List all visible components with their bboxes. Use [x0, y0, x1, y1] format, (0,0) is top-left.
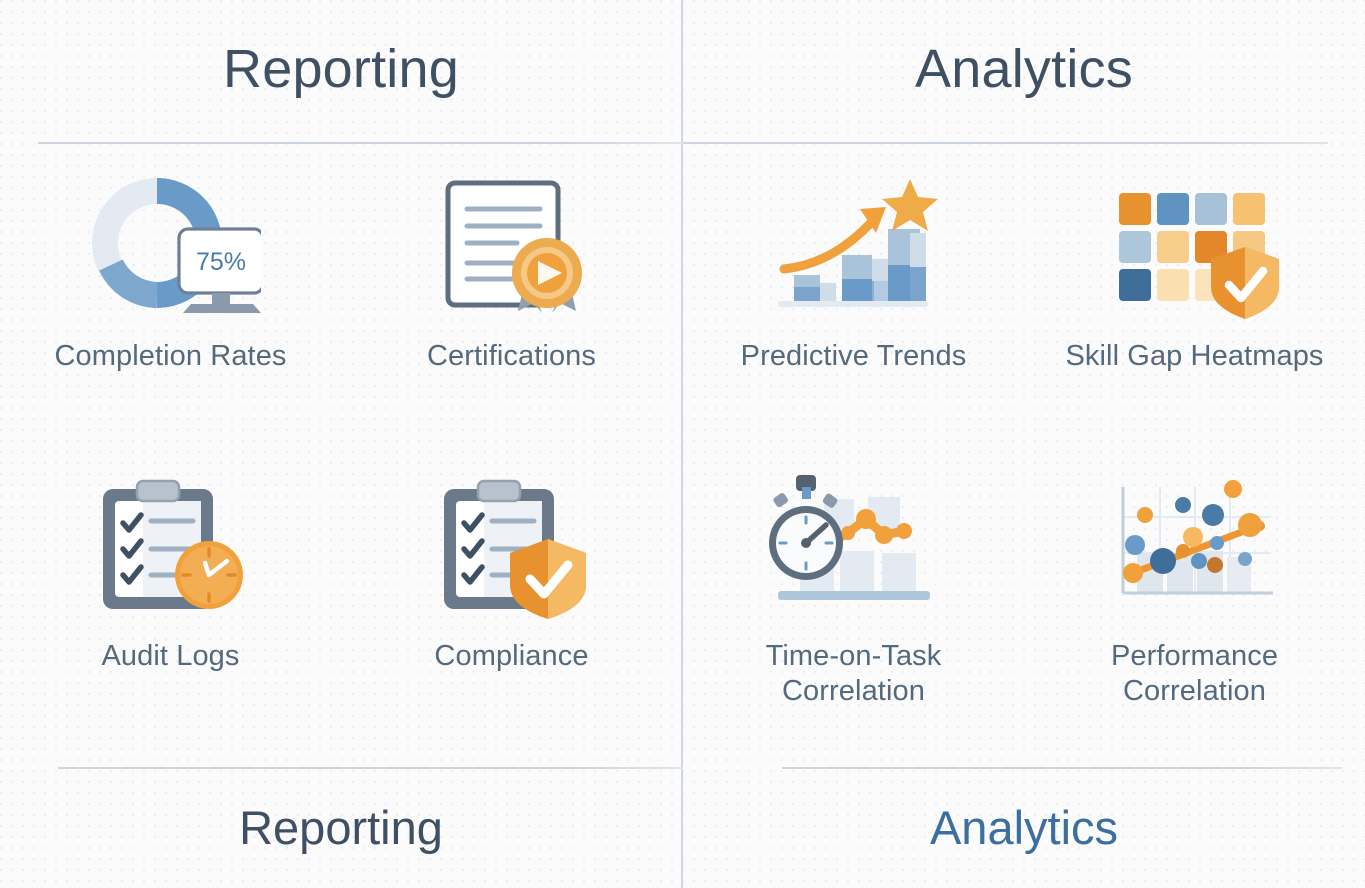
footer-title-analytics: Analytics: [683, 800, 1365, 855]
feature-grid-analytics: Predictive Trends: [683, 170, 1365, 748]
clipboard-shield-check-icon: [422, 470, 602, 625]
feature-certifications[interactable]: Certifications: [341, 170, 682, 448]
donut-value-badge: 75%: [195, 248, 245, 276]
feature-time-on-task-correlation[interactable]: Time-on-Task Correlation: [683, 470, 1024, 748]
feature-label: Certifications: [427, 339, 596, 374]
feature-label: Compliance: [434, 639, 588, 674]
heatmap-grid-shield-icon: [1105, 170, 1285, 325]
feature-label: Time-on-Task Correlation: [766, 639, 942, 710]
feature-predictive-trends[interactable]: Predictive Trends: [683, 170, 1024, 448]
feature-label: Completion Rates: [54, 339, 286, 374]
feature-compliance[interactable]: Compliance: [341, 470, 682, 748]
clipboard-clock-icon: [81, 470, 261, 625]
footer-title-reporting: Reporting: [0, 800, 682, 855]
feature-completion-rates[interactable]: 75% Completion Rates: [0, 170, 341, 448]
feature-label: Predictive Trends: [741, 339, 967, 374]
certificate-award-icon: [422, 170, 602, 325]
panel-analytics: Analytics: [683, 0, 1365, 888]
page-title-reporting: Reporting: [0, 38, 682, 100]
growth-bars-star-icon: [764, 170, 944, 325]
feature-label: Audit Logs: [101, 639, 239, 674]
feature-skill-gap-heatmaps[interactable]: Skill Gap Heatmaps: [1024, 170, 1365, 448]
page-title-analytics: Analytics: [683, 38, 1365, 100]
stopwatch-linechart-icon: [764, 470, 944, 625]
feature-label: Performance Correlation: [1111, 639, 1278, 710]
feature-audit-logs[interactable]: Audit Logs: [0, 470, 341, 748]
feature-label: Skill Gap Heatmaps: [1065, 339, 1323, 374]
scatter-trendline-icon: [1105, 470, 1285, 625]
panel-reporting: Reporting 75% Completion Rates: [0, 0, 682, 888]
feature-grid-reporting: 75% Completion Rates: [0, 170, 682, 748]
feature-performance-correlation[interactable]: Performance Correlation: [1024, 470, 1365, 748]
donut-chart-monitor-icon: 75%: [81, 170, 261, 325]
